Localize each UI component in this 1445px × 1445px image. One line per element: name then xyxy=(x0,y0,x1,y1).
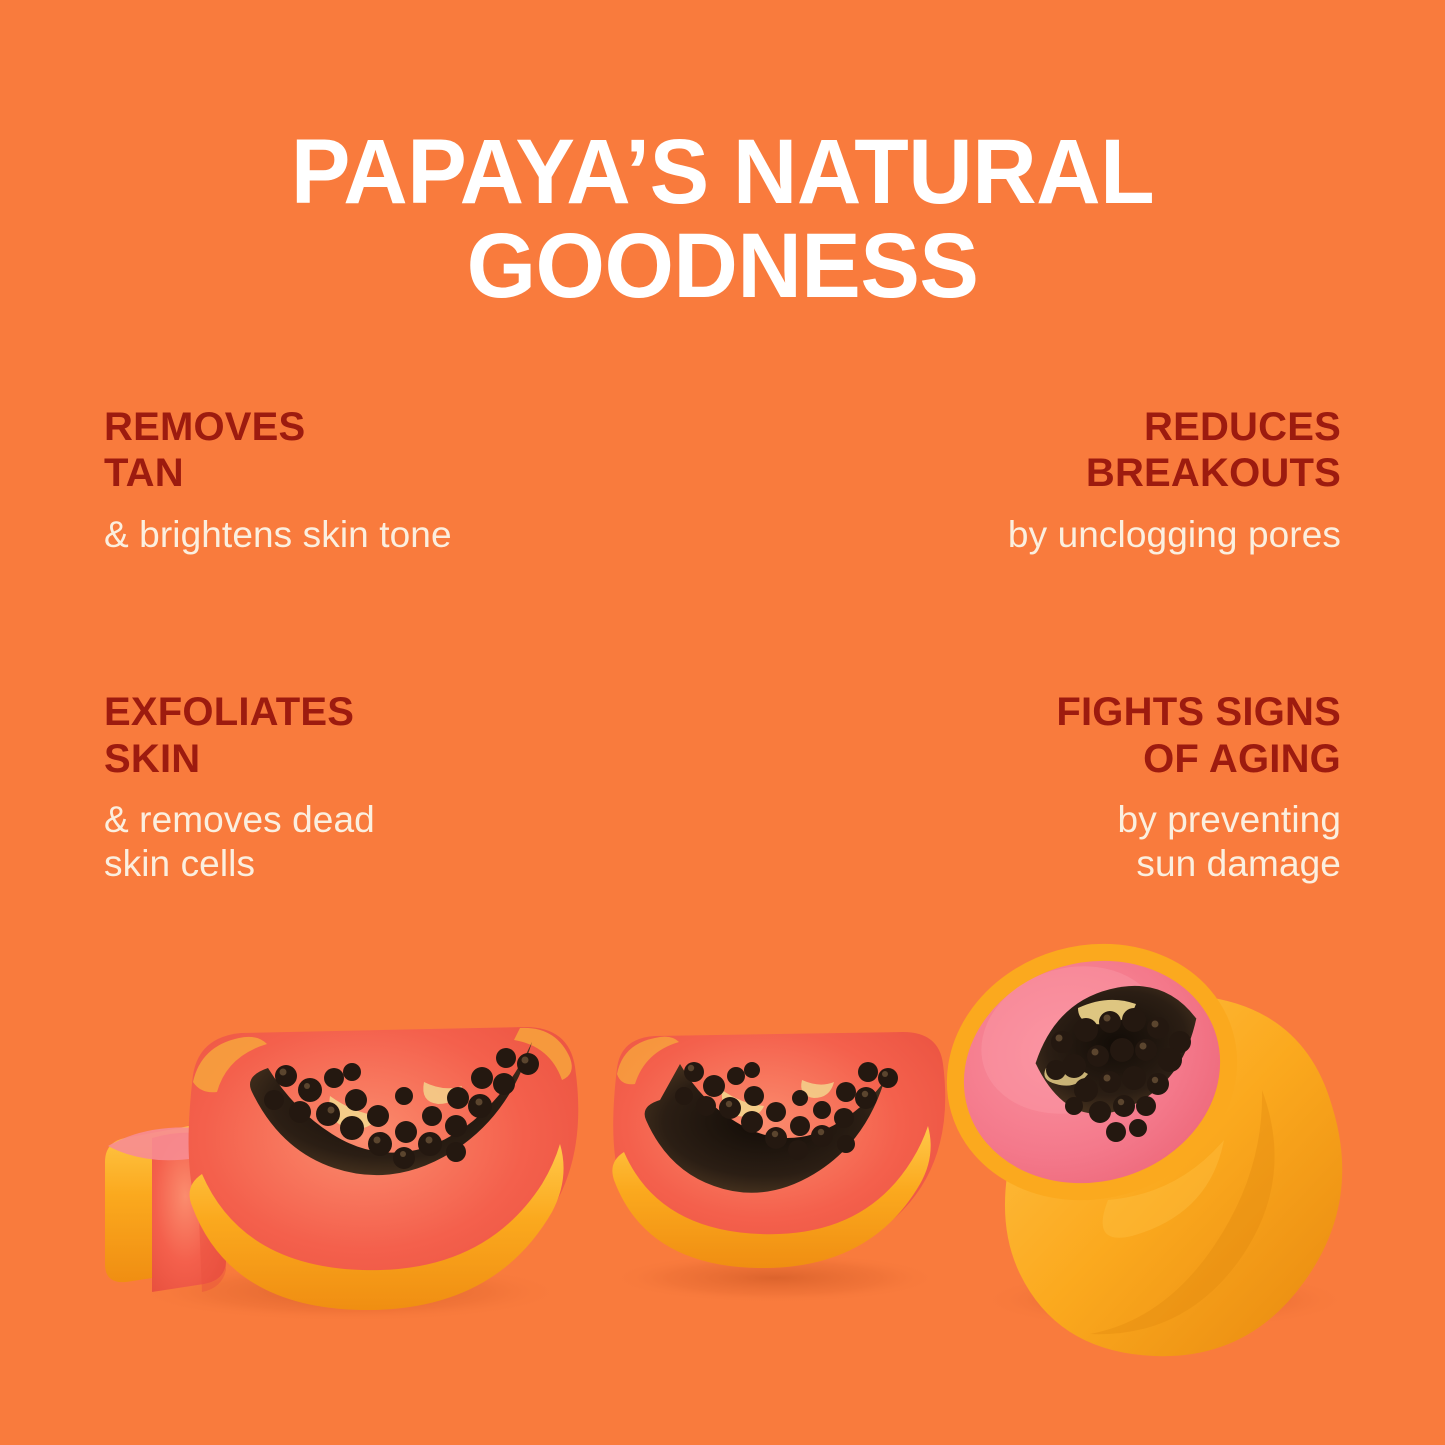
title-line-2: GOODNESS xyxy=(138,220,1307,314)
papaya-photo-group xyxy=(0,900,1445,1380)
benefit-reduces-breakouts: REDUCES BREAKOUTS by unclogging pores xyxy=(772,404,1341,557)
benefit-exfoliates-skin: EXFOLIATES SKIN & removes dead skin cell… xyxy=(104,689,673,887)
title-line-1: PAPAYA’S NATURAL xyxy=(138,126,1307,220)
benefit-subtext: & brightens skin tone xyxy=(104,513,673,557)
benefit-fights-signs-of-aging: FIGHTS SIGNS OF AGING by preventing sun … xyxy=(772,689,1341,887)
benefits-row-1: REMOVES TAN & brightens skin tone REDUCE… xyxy=(104,404,1341,557)
benefit-removes-tan: REMOVES TAN & brightens skin tone xyxy=(104,404,673,557)
page-title: PAPAYA’S NATURAL GOODNESS xyxy=(0,126,1445,314)
benefit-heading: REMOVES TAN xyxy=(104,404,673,497)
benefit-subtext: by unclogging pores xyxy=(772,513,1341,557)
benefit-subtext: & removes dead skin cells xyxy=(104,798,673,887)
benefits-grid: REMOVES TAN & brightens skin tone REDUCE… xyxy=(104,404,1341,887)
papaya-benefits-infographic: PAPAYA’S NATURAL GOODNESS REMOVES TAN & … xyxy=(0,0,1445,1445)
benefits-row-2: EXFOLIATES SKIN & removes dead skin cell… xyxy=(104,689,1341,887)
papaya-wedge-left xyxy=(189,1027,579,1310)
benefit-heading: EXFOLIATES SKIN xyxy=(104,689,673,782)
benefit-heading: FIGHTS SIGNS OF AGING xyxy=(772,689,1341,782)
benefit-heading: REDUCES BREAKOUTS xyxy=(772,404,1341,497)
benefit-subtext: by preventing sun damage xyxy=(772,798,1341,887)
papaya-wedge-center xyxy=(612,1032,945,1268)
